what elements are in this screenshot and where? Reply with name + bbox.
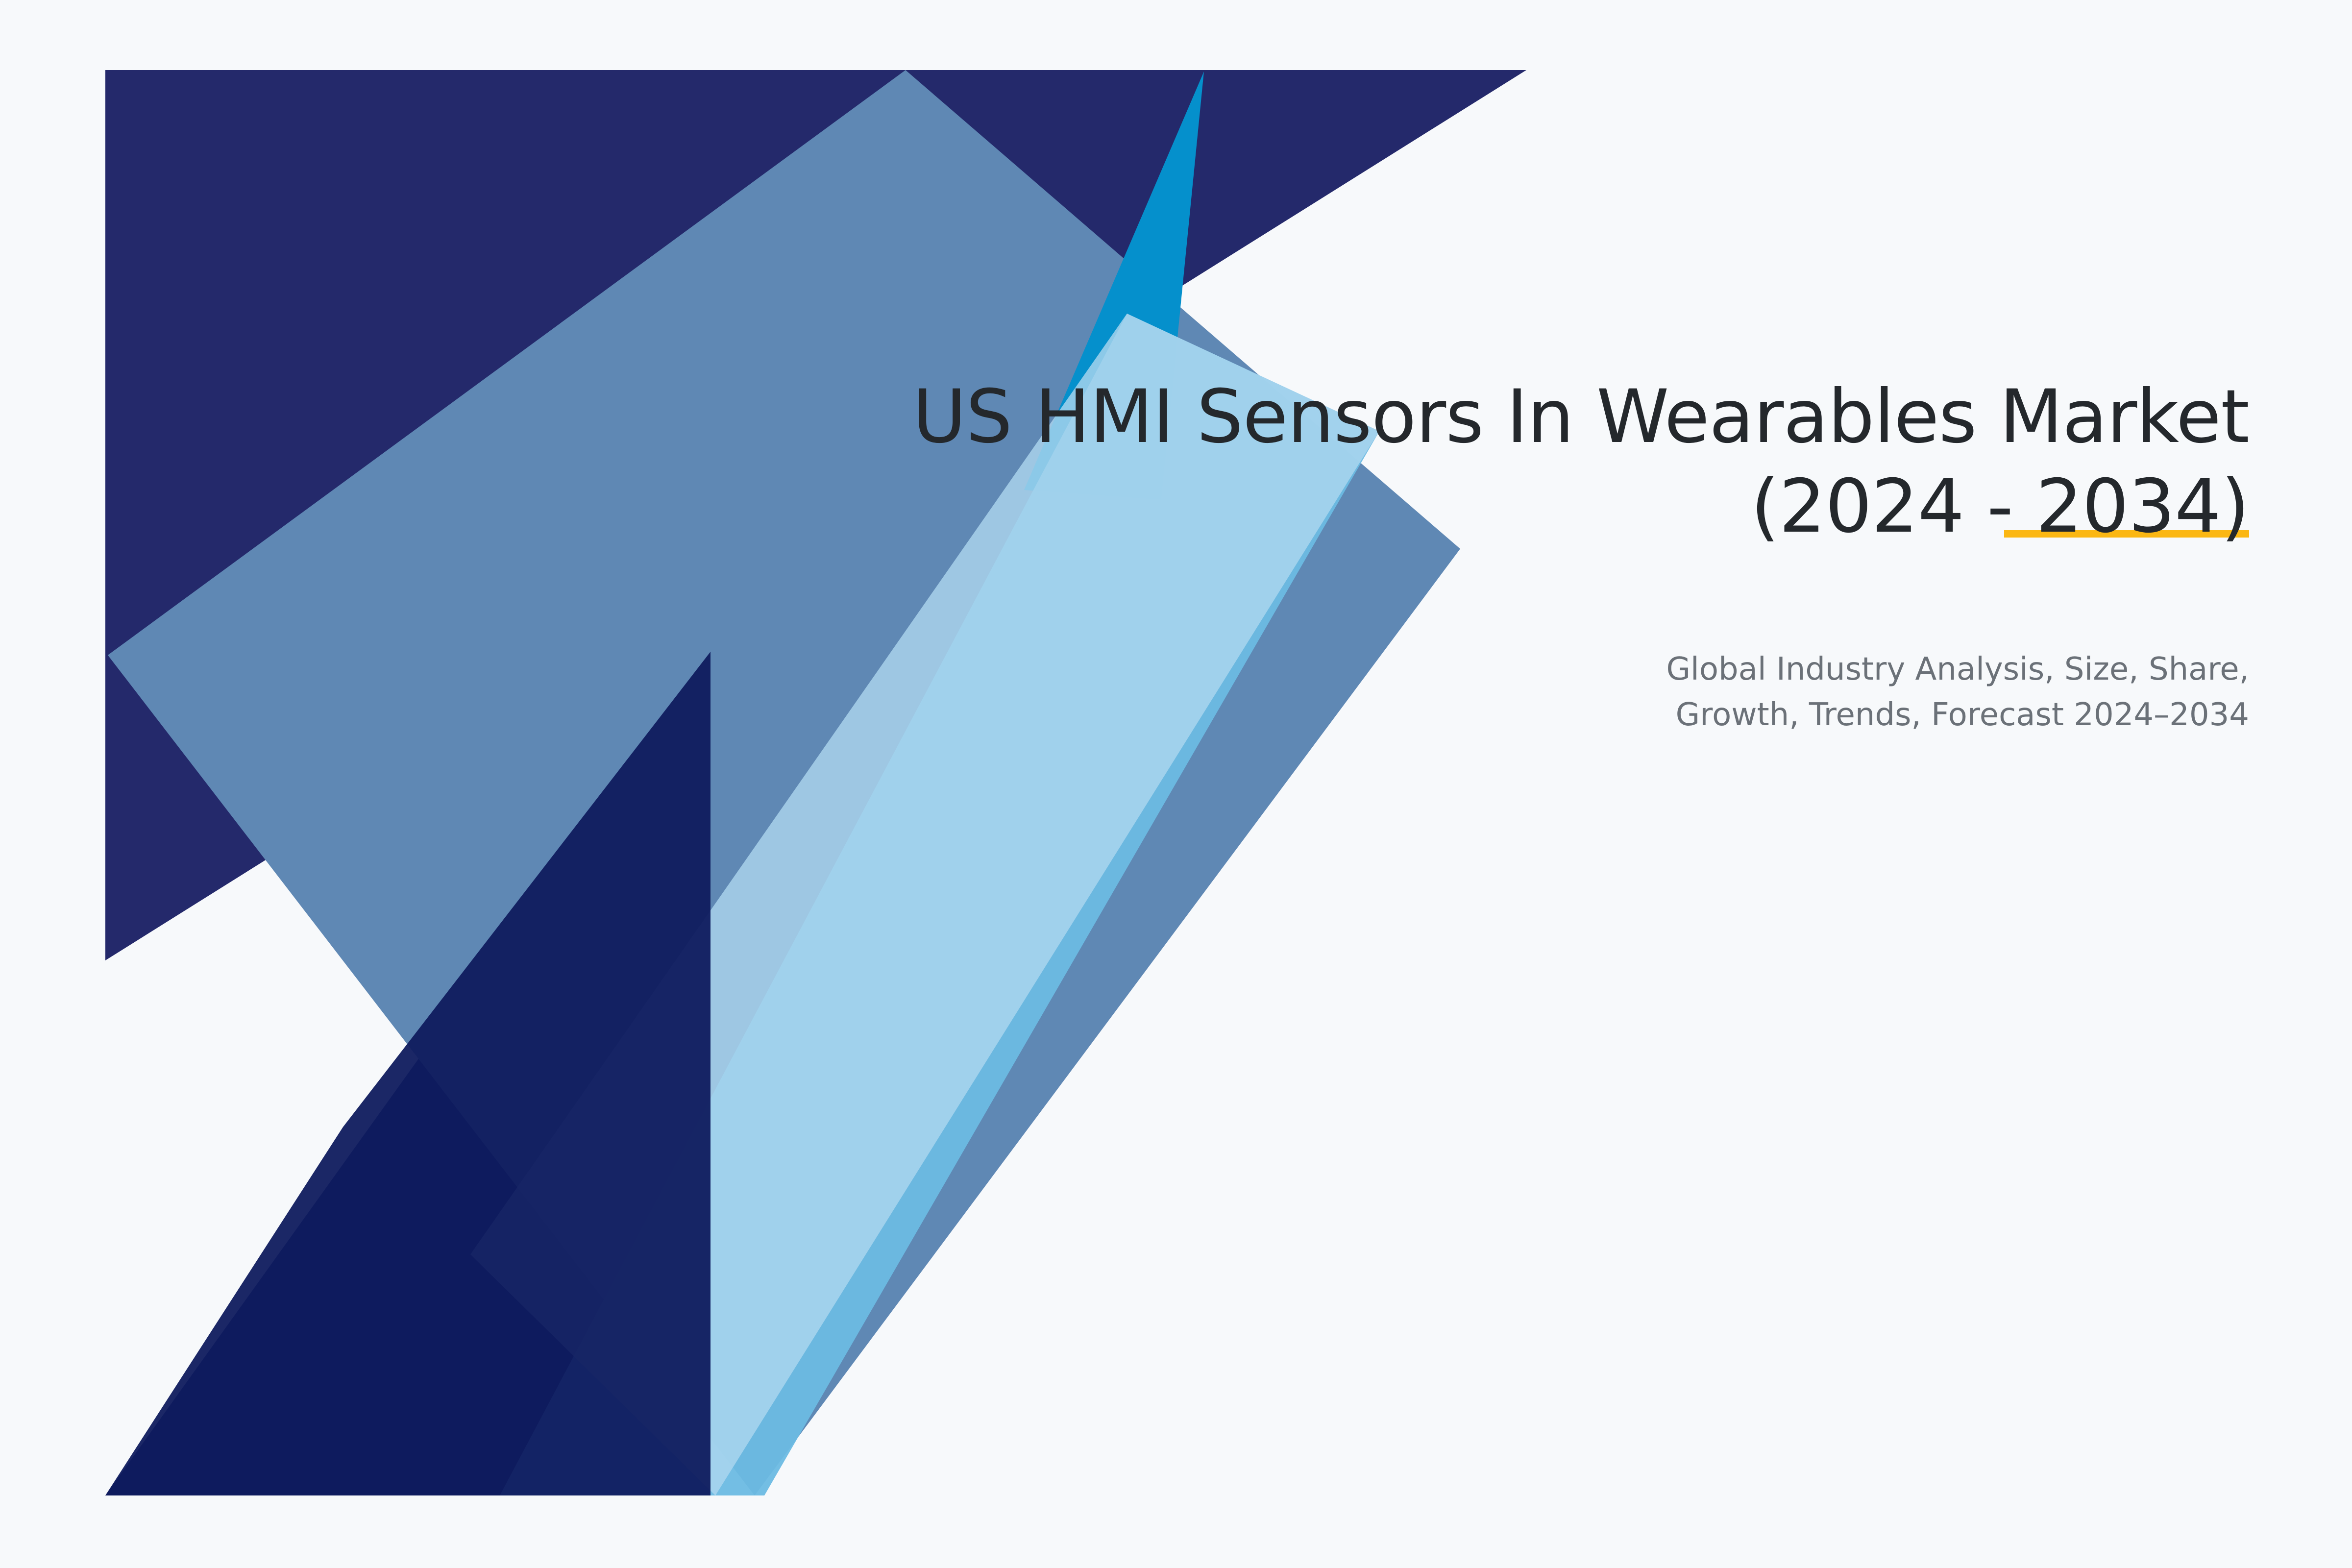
report-cover: US HMI Sensors In Wearables Market (2024… (0, 0, 2352, 1568)
page-title: US HMI Sensors In Wearables Market (2024… (637, 372, 2249, 552)
title-block: US HMI Sensors In Wearables Market (2024… (637, 372, 2249, 552)
page-subtitle: Global Industry Analysis, Size, Share, G… (637, 647, 2249, 738)
abstract-geometric-cover-graphic (0, 0, 2352, 1568)
